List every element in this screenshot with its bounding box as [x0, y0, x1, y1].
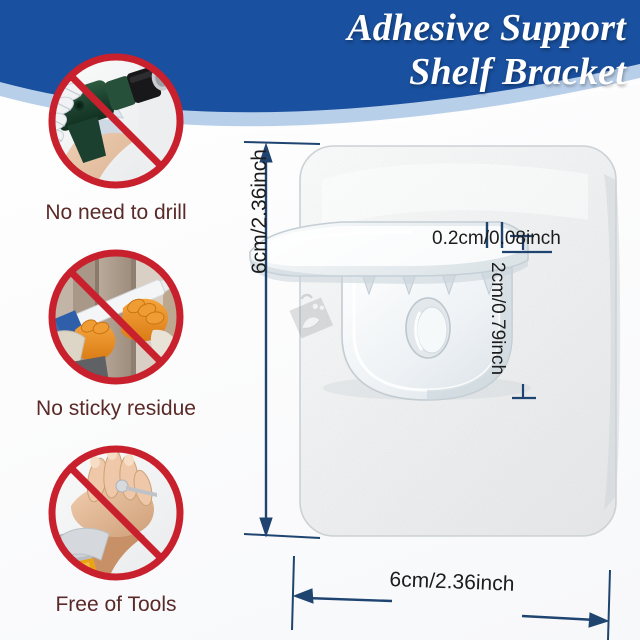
product-infographic: Adhesive Support Shelf Bracket [0, 0, 640, 640]
product-illustration [232, 100, 640, 640]
dimension-width-arrow [292, 556, 610, 640]
page-title: Adhesive Support Shelf Bracket [196, 8, 626, 93]
feature-no-tools: Free of Tools [0, 440, 232, 617]
title-line-2: Shelf Bracket [196, 52, 626, 92]
feature-caption: No need to drill [0, 201, 232, 225]
feature-no-residue: No sticky residue [0, 244, 232, 421]
feature-caption: No sticky residue [0, 397, 232, 421]
feature-no-drill: No need to drill [0, 48, 232, 225]
dimension-depth-label: 2cm/0.79inch [486, 262, 508, 375]
feature-caption: Free of Tools [0, 593, 232, 617]
dimension-thickness-label: 0.2cm/0.08inch [432, 228, 561, 250]
dimension-width-label: 6cm/2.36inch [389, 568, 515, 597]
dimension-depth-ticks [510, 236, 536, 398]
dimension-height-label: 6cm/2.36inch [248, 149, 272, 274]
caulk-gun-prohibited-icon [31, 244, 201, 396]
drill-prohibited-icon [31, 48, 201, 200]
title-line-1: Adhesive Support [196, 8, 626, 48]
hammer-nail-prohibited-icon [31, 440, 201, 592]
